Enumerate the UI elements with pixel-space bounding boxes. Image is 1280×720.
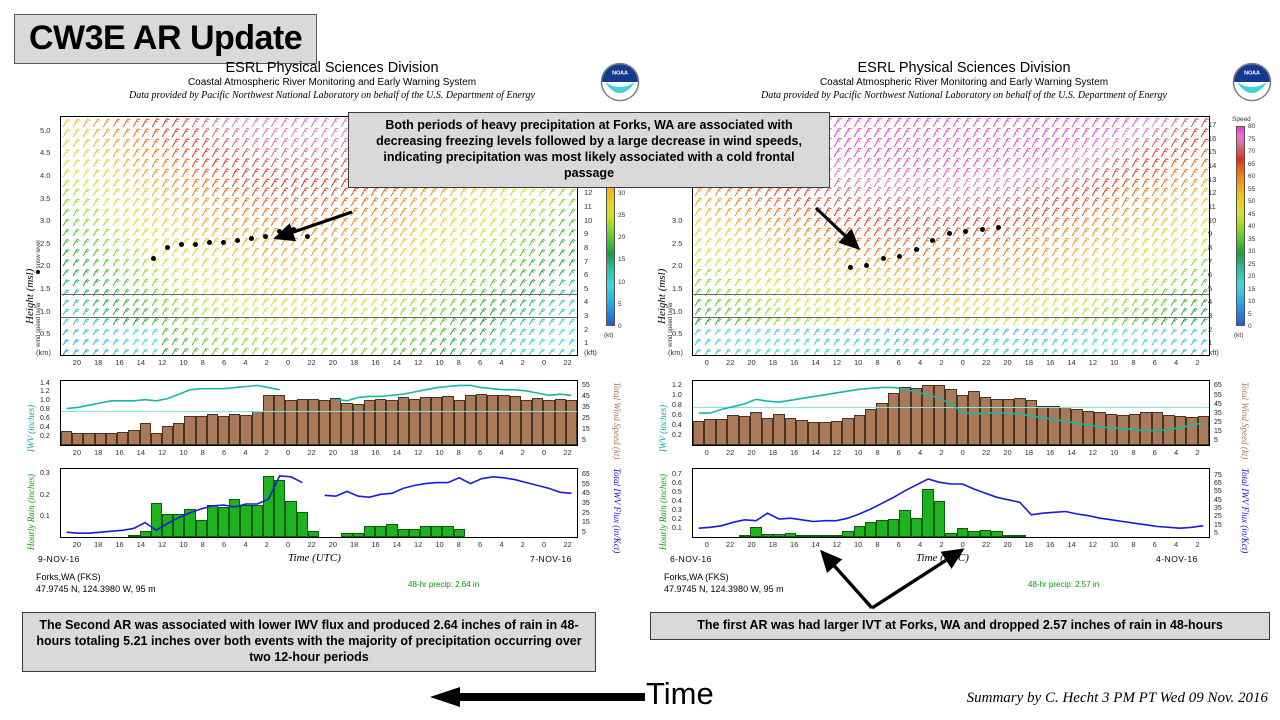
time-tick-label: 8: [875, 358, 879, 367]
time-tick-label: 4: [499, 448, 503, 457]
snow-level-dot: [235, 238, 240, 243]
y2-tick-label: 5: [1214, 437, 1218, 444]
time-tick-label: 10: [179, 358, 187, 367]
time-tick-label: 8: [1131, 358, 1135, 367]
time-tick-label: 2: [521, 540, 525, 549]
time-tick-label: 18: [94, 540, 102, 549]
time-tick-label: 10: [854, 448, 862, 457]
time-tick-label: 12: [833, 540, 841, 549]
callout-bottom-right-annotation: The first AR was had larger IVT at Forks…: [650, 612, 1270, 640]
time-tick-label: 2: [1195, 540, 1199, 549]
colorbar-tick-label: 65: [1248, 161, 1255, 168]
time-tick-label: 8: [457, 540, 461, 549]
time-tick-label: 18: [1025, 448, 1033, 457]
time-tick-label: 2: [521, 358, 525, 367]
time-tick-label: 14: [137, 540, 145, 549]
right-windspeed-axis-label: Total Wind Speed (kt): [1240, 382, 1250, 459]
height-kft-tick-label: 5: [584, 284, 588, 293]
time-tick-label: 18: [94, 358, 102, 367]
time-tick-label: 14: [393, 358, 401, 367]
time-tick-label: 4: [243, 540, 247, 549]
left-station-name: Forks,WA (FKS): [36, 572, 156, 584]
right-precip-48hr: 48-hr precip: 2.57 in: [1028, 580, 1099, 589]
colorbar-tick-label: 35: [1248, 236, 1255, 243]
time-tick-label: 22: [307, 358, 315, 367]
y2-tick-label: 45: [1214, 497, 1222, 504]
right-rain-axis-label: Hourly Rain (inches): [658, 474, 668, 550]
height-tick-label: 4.0: [40, 171, 50, 180]
time-tick-label: 12: [158, 358, 166, 367]
y2-tick-label: 65: [582, 471, 590, 478]
time-tick-label: 4: [243, 448, 247, 457]
colorbar-tick-label: 50: [1248, 198, 1255, 205]
height-kft-tick-label: 13: [1208, 175, 1216, 184]
colorbar-tick-label: 80: [1248, 123, 1255, 130]
snow-level-dot: [881, 256, 886, 261]
time-tick-label: 12: [414, 358, 422, 367]
esrl-header-right: ESRL Physical Sciences Division Coastal …: [650, 60, 1278, 110]
esrl-title-line1: ESRL Physical Sciences Division: [650, 60, 1278, 77]
height-kft-tick-label: 14: [1208, 161, 1216, 170]
height-tick-label: 1.5: [40, 284, 50, 293]
time-tick-label: 2: [521, 448, 525, 457]
time-tick-label: 8: [457, 448, 461, 457]
right-rain-panel: Hourly Rain (inches) Total IWV Flux (in/…: [650, 464, 1278, 560]
colorbar-tick-label: 75: [1248, 136, 1255, 143]
time-tick-label: 6: [1153, 448, 1157, 457]
time-tick-label: 2: [939, 540, 943, 549]
height-tick-label: 2.0: [40, 261, 50, 270]
y-tick-label: 1.4: [40, 380, 50, 387]
left-station-coords: 47.9745 N, 124.3980 W, 95 m: [36, 584, 156, 596]
time-tick-label: 0: [542, 540, 546, 549]
height-kft-tick-label: 10: [584, 216, 592, 225]
time-tick-label: 16: [790, 358, 798, 367]
time-tick-label: 8: [1131, 448, 1135, 457]
time-tick-label: 14: [1067, 358, 1075, 367]
y2-tick-label: 25: [1214, 419, 1222, 426]
y-tick-label: 0.4: [672, 422, 682, 429]
height-kft-tick-label: 1: [1208, 338, 1212, 347]
y-tick-label: 0.2: [672, 432, 682, 439]
colorbar-tick-label: 30: [618, 190, 625, 197]
time-tick-label: 10: [435, 540, 443, 549]
height-tick-label: 3.0: [40, 216, 50, 225]
time-tick-label: 20: [1003, 540, 1011, 549]
time-tick-label: 0: [542, 358, 546, 367]
time-tick-label: 10: [854, 358, 862, 367]
time-tick-label: 20: [747, 358, 755, 367]
colorbar-tick-label: 25: [618, 212, 625, 219]
left-iwv-axis-label: IWV (inches): [26, 405, 36, 452]
time-tick-label: 2: [939, 358, 943, 367]
time-tick-label: 18: [769, 448, 777, 457]
height-kft-tick-label: 17: [1208, 120, 1216, 129]
time-tick-label: 20: [1003, 358, 1011, 367]
time-tick-label: 16: [790, 448, 798, 457]
y-tick-label: 1.2: [40, 388, 50, 395]
time-tick-label: 0: [705, 540, 709, 549]
y2-tick-label: 35: [1214, 410, 1222, 417]
time-tick-label: 8: [1131, 540, 1135, 549]
left-rain-axis-label: Hourly Rain (inches): [26, 474, 36, 550]
time-tick-label: 6: [478, 448, 482, 457]
y-tick-label: 0.6: [40, 415, 50, 422]
time-tick-label: 10: [179, 540, 187, 549]
y2-tick-label: 25: [1214, 513, 1222, 520]
right-iwv-axis-label: IWV (inches): [658, 405, 668, 452]
svg-text:NOAA: NOAA: [612, 71, 628, 77]
left-height-unit-right: (kft): [584, 348, 597, 357]
time-tick-label: 18: [769, 540, 777, 549]
time-tick-label: 10: [179, 448, 187, 457]
time-tick-label: 0: [705, 358, 709, 367]
left-rain-panel: Hourly Rain (inches) Total IWV Flux (in/…: [18, 464, 646, 560]
time-tick-label: 22: [982, 540, 990, 549]
time-tick-label: 14: [393, 540, 401, 549]
time-tick-label: 18: [350, 448, 358, 457]
left-colorbar-unit: (kt): [604, 332, 613, 339]
time-tick-label: 6: [1153, 358, 1157, 367]
height-kft-tick-label: 10: [1208, 216, 1216, 225]
height-kft-tick-label: 9: [584, 229, 588, 238]
height-kft-tick-label: 1: [584, 338, 588, 347]
time-tick-label: 6: [897, 448, 901, 457]
y-tick-label: 1.2: [672, 382, 682, 389]
height-tick-label: 3.0: [672, 216, 682, 225]
series-line: [61, 469, 577, 538]
height-kft-tick-label: 2: [584, 325, 588, 334]
y-tick-label: 0.1: [672, 525, 682, 532]
colorbar-tick-label: 60: [1248, 173, 1255, 180]
time-tick-label: 12: [1089, 540, 1097, 549]
time-tick-label: 12: [1089, 358, 1097, 367]
time-tick-label: 12: [833, 358, 841, 367]
callout-bottom-left-annotation: The Second AR was associated with lower …: [22, 612, 596, 672]
summary-byline: Summary by C. Hecht 3 PM PT Wed 09 Nov. …: [967, 690, 1268, 707]
series-line: [61, 381, 577, 446]
noaa-logo-icon: NOAA: [1232, 62, 1272, 102]
snow-level-dot: [277, 229, 282, 234]
left-height-unit: (km): [36, 348, 51, 357]
time-tick-label: 20: [73, 448, 81, 457]
time-tick-label: 22: [726, 448, 734, 457]
y2-tick-label: 35: [582, 500, 590, 507]
time-tick-label: 22: [307, 448, 315, 457]
time-tick-label: 14: [811, 358, 819, 367]
y2-tick-label: 45: [582, 490, 590, 497]
time-tick-label: 0: [961, 540, 965, 549]
time-direction-arrow: [430, 686, 645, 708]
height-kft-tick-label: 7: [584, 257, 588, 266]
time-tick-label: 10: [435, 448, 443, 457]
time-tick-label: 16: [115, 448, 123, 457]
left-time-axis-label: Time (UTC): [288, 552, 341, 564]
time-tick-label: 16: [790, 540, 798, 549]
height-kft-tick-label: 4: [1208, 297, 1212, 306]
height-kft-tick-label: 15: [1208, 147, 1216, 156]
snow-level-dot: [249, 236, 254, 241]
left-date-end: 7-NOV-16: [530, 554, 572, 564]
time-tick-label: 8: [201, 358, 205, 367]
snow-level-dot: [848, 265, 853, 270]
y2-tick-label: 15: [582, 519, 590, 526]
snow-level-dot: [305, 234, 310, 239]
height-tick-label: 2.0: [672, 261, 682, 270]
time-tick-label: 22: [563, 358, 571, 367]
time-tick-label: 6: [222, 540, 226, 549]
time-tick-label: 14: [1067, 448, 1075, 457]
time-tick-label: 18: [350, 358, 358, 367]
colorbar-tick-label: 70: [1248, 148, 1255, 155]
time-tick-label: 4: [499, 540, 503, 549]
y2-tick-label: 75: [1214, 472, 1222, 479]
time-tick-label: 14: [137, 358, 145, 367]
y2-tick-label: 15: [1214, 522, 1222, 529]
esrl-header-left: ESRL Physical Sciences Division Coastal …: [18, 60, 646, 110]
left-precip-48hr: 48-hr precip: 2.64 in: [408, 580, 479, 589]
time-tick-label: 4: [918, 540, 922, 549]
time-tick-label: 22: [726, 358, 734, 367]
time-tick-label: 8: [875, 540, 879, 549]
right-colorbar-heading: Speed: [1232, 116, 1251, 123]
time-tick-label: 0: [705, 448, 709, 457]
page-title: CW3E AR Update: [14, 14, 317, 64]
y2-tick-label: 45: [582, 393, 590, 400]
y-tick-label: 1.0: [672, 392, 682, 399]
time-tick-label: 4: [1174, 540, 1178, 549]
time-tick-label: 10: [1110, 540, 1118, 549]
time-tick-label: 14: [811, 540, 819, 549]
height-kft-tick-label: 4: [584, 297, 588, 306]
time-tick-label: 4: [1174, 358, 1178, 367]
snow-level-dot: [263, 234, 268, 239]
time-tick-label: 10: [1110, 448, 1118, 457]
height-kft-tick-label: 7: [1208, 257, 1212, 266]
left-iwv-panel: IWV (inches) Total Wind Speed (kt) 0.20.…: [18, 376, 646, 462]
time-tick-label: 12: [158, 448, 166, 457]
right-iwvflux-axis-label: Total IWV Flux (in/Kct): [1240, 468, 1250, 553]
y-tick-label: 0.4: [40, 424, 50, 431]
colorbar-tick-label: 20: [1248, 273, 1255, 280]
snow-level-dot: [980, 227, 985, 232]
left-station-info: Forks,WA (FKS) 47.9745 N, 124.3980 W, 95…: [36, 572, 156, 595]
y2-tick-label: 35: [582, 404, 590, 411]
time-tick-label: 18: [1025, 540, 1033, 549]
time-tick-label: 2: [1195, 358, 1199, 367]
height-kft-tick-label: 3: [1208, 311, 1212, 320]
time-tick-label: 12: [1089, 448, 1097, 457]
height-tick-label: 4.5: [40, 148, 50, 157]
height-kft-tick-label: 9: [1208, 229, 1212, 238]
time-tick-label: 0: [961, 358, 965, 367]
right-height-axis-label: Height (msl): [656, 269, 668, 324]
y-tick-label: 0.6: [672, 480, 682, 487]
wind-speed-layer-line: [61, 294, 577, 295]
wind-speed-layer-line: [61, 317, 577, 318]
y-tick-label: 0.8: [40, 406, 50, 413]
height-tick-label: 3.5: [40, 194, 50, 203]
y-tick-label: 0.2: [672, 516, 682, 523]
height-tick-label: 1.0: [672, 307, 682, 316]
time-tick-label: 8: [875, 448, 879, 457]
time-tick-label: 10: [854, 540, 862, 549]
esrl-title-line3: Data provided by Pacific Northwest Natio…: [650, 89, 1278, 102]
time-tick-label: 4: [243, 358, 247, 367]
y-tick-label: 0.2: [40, 492, 50, 499]
y2-tick-label: 5: [582, 437, 586, 444]
time-tick-label: 6: [222, 448, 226, 457]
y2-tick-label: 25: [582, 415, 590, 422]
time-tick-label: 6: [478, 358, 482, 367]
time-tick-label: 6: [478, 540, 482, 549]
y-tick-label: 0.8: [672, 402, 682, 409]
time-tick-label: 4: [499, 358, 503, 367]
svg-text:NOAA: NOAA: [1244, 71, 1260, 77]
time-tick-label: 16: [371, 358, 379, 367]
height-tick-label: 2.5: [672, 239, 682, 248]
time-tick-label: 8: [457, 358, 461, 367]
y-tick-label: 1.0: [40, 397, 50, 404]
time-tick-label: 18: [94, 448, 102, 457]
time-tick-label: 2: [265, 358, 269, 367]
right-colorbar-unit: (kt): [1234, 332, 1243, 339]
time-label: Time: [646, 676, 714, 712]
slide-root: CW3E AR Update ESRL Physical Sciences Di…: [0, 0, 1280, 720]
time-tick-label: 0: [286, 540, 290, 549]
time-tick-label: 12: [414, 448, 422, 457]
height-kft-tick-label: 8: [584, 243, 588, 252]
colorbar-tick-label: 20: [618, 234, 625, 241]
y-tick-label: 0.4: [672, 498, 682, 505]
time-tick-label: 12: [158, 540, 166, 549]
y2-tick-label: 45: [1214, 401, 1222, 408]
time-tick-label: 6: [1153, 540, 1157, 549]
noaa-logo-icon: NOAA: [600, 62, 640, 102]
time-tick-label: 0: [542, 448, 546, 457]
time-tick-label: 22: [563, 448, 571, 457]
series-line: [693, 381, 1209, 446]
colorbar-tick-label: 45: [1248, 211, 1255, 218]
wind-speed-layer-line: [693, 294, 1209, 295]
y2-tick-label: 5: [582, 529, 586, 536]
time-tick-label: 8: [201, 540, 205, 549]
time-tick-label: 20: [329, 540, 337, 549]
height-tick-label: 0.5: [40, 329, 50, 338]
right-wind-colorbar: [1236, 126, 1245, 326]
right-date-end: 4-NOV-16: [1156, 554, 1198, 564]
time-tick-label: 8: [201, 448, 205, 457]
time-tick-label: 4: [918, 358, 922, 367]
right-station-info: Forks,WA (FKS) 47.9745 N, 124.3980 W, 95…: [664, 572, 784, 595]
time-tick-label: 20: [73, 358, 81, 367]
height-kft-tick-label: 3: [584, 311, 588, 320]
time-tick-label: 18: [1025, 358, 1033, 367]
time-tick-label: 16: [1046, 358, 1054, 367]
height-kft-tick-label: 6: [1208, 270, 1212, 279]
time-tick-label: 20: [747, 448, 755, 457]
y-tick-label: 0.5: [672, 489, 682, 496]
time-tick-label: 22: [726, 540, 734, 549]
height-tick-label: 2.5: [40, 239, 50, 248]
height-kft-tick-label: 16: [1208, 134, 1216, 143]
snow-level-dot: [914, 247, 919, 252]
right-station-name: Forks,WA (FKS): [664, 572, 784, 584]
time-tick-label: 20: [1003, 448, 1011, 457]
time-tick-label: 2: [265, 540, 269, 549]
height-kft-tick-label: 2: [1208, 325, 1212, 334]
snow-level-dot: [291, 227, 296, 232]
colorbar-tick-label: 0: [1248, 323, 1252, 330]
y2-tick-label: 15: [1214, 428, 1222, 435]
wind-speed-layer-line: [693, 317, 1209, 318]
esrl-title-line3: Data provided by Pacific Northwest Natio…: [18, 89, 646, 102]
left-iwvflux-axis-label: Total IWV Flux (in/Kct): [612, 468, 622, 553]
y2-tick-label: 55: [1214, 392, 1222, 399]
colorbar-tick-label: 15: [618, 256, 625, 263]
time-tick-label: 22: [307, 540, 315, 549]
time-tick-label: 18: [769, 358, 777, 367]
colorbar-tick-label: 30: [1248, 248, 1255, 255]
right-iwv-panel: IWV (inches) Total Wind Speed (kt) 0.20.…: [650, 376, 1278, 462]
time-tick-label: 10: [435, 358, 443, 367]
height-kft-tick-label: 6: [584, 270, 588, 279]
left-date-start: 9-NOV-16: [38, 554, 80, 564]
y-tick-label: 0.3: [672, 507, 682, 514]
esrl-title-line2: Coastal Atmospheric River Monitoring and…: [18, 77, 646, 90]
time-tick-label: 12: [833, 448, 841, 457]
time-tick-label: 16: [371, 540, 379, 549]
y2-tick-label: 65: [1214, 480, 1222, 487]
y-tick-label: 0.7: [672, 471, 682, 478]
height-tick-label: 1.5: [672, 284, 682, 293]
y2-tick-label: 35: [1214, 505, 1222, 512]
height-tick-label: 5.0: [40, 126, 50, 135]
y2-tick-label: 65: [1214, 382, 1222, 389]
time-tick-label: 4: [918, 448, 922, 457]
height-kft-tick-label: 11: [1208, 202, 1216, 211]
height-kft-tick-label: 12: [584, 188, 592, 197]
time-tick-label: 20: [329, 358, 337, 367]
right-height-unit: (km): [668, 348, 683, 357]
time-tick-label: 10: [1110, 358, 1118, 367]
height-kft-tick-label: 5: [1208, 284, 1212, 293]
time-tick-label: 22: [563, 540, 571, 549]
time-tick-label: 14: [137, 448, 145, 457]
time-tick-label: 0: [286, 358, 290, 367]
time-tick-label: 2: [265, 448, 269, 457]
time-tick-label: 6: [222, 358, 226, 367]
height-tick-label: 1.0: [40, 307, 50, 316]
time-tick-label: 20: [747, 540, 755, 549]
height-kft-tick-label: 11: [584, 202, 592, 211]
esrl-title-line2: Coastal Atmospheric River Monitoring and…: [650, 77, 1278, 90]
time-tick-label: 0: [961, 448, 965, 457]
y2-tick-label: 55: [582, 481, 590, 488]
time-tick-label: 2: [939, 448, 943, 457]
left-height-axis-label: Height (msl): [24, 269, 36, 324]
esrl-title-line1: ESRL Physical Sciences Division: [18, 60, 646, 77]
time-tick-label: 2: [1195, 448, 1199, 457]
series-line: [693, 469, 1209, 538]
time-tick-label: 20: [329, 448, 337, 457]
y2-tick-label: 25: [582, 510, 590, 517]
time-tick-label: 6: [897, 540, 901, 549]
time-tick-label: 16: [371, 448, 379, 457]
time-tick-label: 22: [982, 448, 990, 457]
colorbar-tick-label: 10: [618, 279, 625, 286]
time-tick-label: 16: [1046, 448, 1054, 457]
